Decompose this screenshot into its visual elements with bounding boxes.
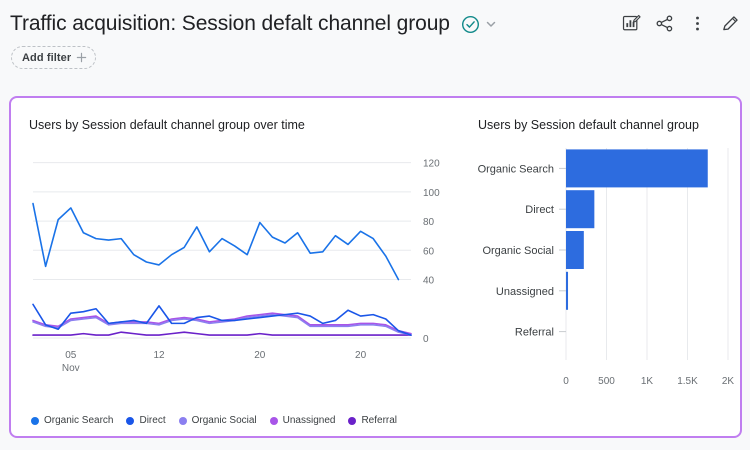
line-chart-pane: Users by Session default channel group o…	[11, 98, 466, 436]
x-tick-label: 05	[65, 350, 77, 361]
legend-color-dot	[179, 417, 187, 425]
bar-x-tick-label: 500	[598, 376, 615, 387]
x-tick-sublabel: Nov	[62, 363, 80, 374]
legend-item-unassigned[interactable]: Unassigned	[270, 415, 336, 426]
y-tick-label: 0	[423, 334, 429, 345]
bar-chart-pane: Users by Session default channel group O…	[466, 98, 740, 436]
legend-color-dot	[270, 417, 278, 425]
line-series-direct	[33, 304, 411, 335]
bar-direct[interactable]	[566, 190, 594, 228]
page-title: Traffic acquisition: Session defalt chan…	[10, 12, 450, 36]
page-header: Traffic acquisition: Session defalt chan…	[0, 0, 750, 88]
chevron-down-icon[interactable]	[484, 17, 498, 31]
y-tick-label: 100	[423, 188, 440, 199]
plus-icon	[76, 52, 87, 63]
legend-item-organic-search[interactable]: Organic Search	[31, 415, 113, 426]
bar-category-label: Organic Social	[482, 245, 554, 257]
y-tick-label: 80	[423, 217, 435, 228]
legend-item-referral[interactable]: Referral	[348, 415, 397, 426]
line-series-referral	[33, 332, 411, 335]
y-tick-label: 60	[423, 246, 435, 257]
line-series-organic-search	[33, 204, 398, 280]
title-row: Traffic acquisition: Session defalt chan…	[10, 12, 500, 36]
legend-item-label: Referral	[361, 415, 397, 426]
y-tick-label: 40	[423, 276, 435, 287]
legend-item-label: Unassigned	[283, 415, 336, 426]
more-vert-icon[interactable]	[688, 14, 707, 33]
header-action-icons	[622, 14, 740, 33]
legend-item-organic-social[interactable]: Organic Social	[179, 415, 257, 426]
bar-unassigned[interactable]	[566, 272, 568, 310]
bar-category-label: Unassigned	[496, 286, 554, 298]
line-chart-title: Users by Session default channel group o…	[29, 118, 305, 132]
bar-x-tick-label: 1K	[641, 376, 654, 387]
bar-x-tick-label: 0	[563, 376, 569, 387]
legend-color-dot	[126, 417, 134, 425]
bar-organic-social[interactable]	[566, 231, 584, 269]
card-panes: Users by Session default channel group o…	[11, 98, 740, 436]
report-card[interactable]: Users by Session default channel group o…	[9, 96, 742, 438]
add-filter-label: Add filter	[22, 52, 71, 64]
x-tick-label: 20	[355, 350, 367, 361]
bar-x-tick-label: 2K	[722, 376, 735, 387]
app-root: Traffic acquisition: Session defalt chan…	[0, 0, 750, 450]
bar-chart-plot[interactable]: Organic SearchDirectOrganic SocialUnassi…	[466, 140, 740, 430]
legend-item-label: Organic Search	[44, 415, 113, 426]
bar-category-label: Referral	[515, 327, 554, 339]
bar-chart-title: Users by Session default channel group	[478, 118, 699, 132]
check-circle-icon[interactable]	[461, 15, 480, 34]
legend-item-label: Organic Social	[192, 415, 257, 426]
line-series-unassigned	[33, 313, 411, 333]
line-chart-plot[interactable]: 120100806040005122020Nov	[11, 140, 466, 390]
report-status-chip[interactable]	[459, 13, 500, 36]
edit-pencil-icon[interactable]	[721, 14, 740, 33]
legend-item-label: Direct	[139, 415, 165, 426]
legend-color-dot	[348, 417, 356, 425]
add-filter-button[interactable]: Add filter	[11, 46, 96, 69]
legend-item-direct[interactable]: Direct	[126, 415, 165, 426]
bar-organic-search[interactable]	[566, 149, 708, 187]
y-tick-label: 120	[423, 159, 440, 170]
bar-category-label: Direct	[525, 204, 554, 216]
insights-chart-icon[interactable]	[622, 14, 641, 33]
x-tick-label: 20	[254, 350, 266, 361]
share-icon[interactable]	[655, 14, 674, 33]
line-series-organic-social	[33, 315, 411, 335]
legend-color-dot	[31, 417, 39, 425]
chart-legend: Organic SearchDirectOrganic SocialUnassi…	[31, 415, 397, 426]
bar-category-label: Organic Search	[478, 163, 554, 175]
bar-x-tick-label: 1.5K	[677, 376, 698, 387]
x-tick-label: 12	[153, 350, 165, 361]
